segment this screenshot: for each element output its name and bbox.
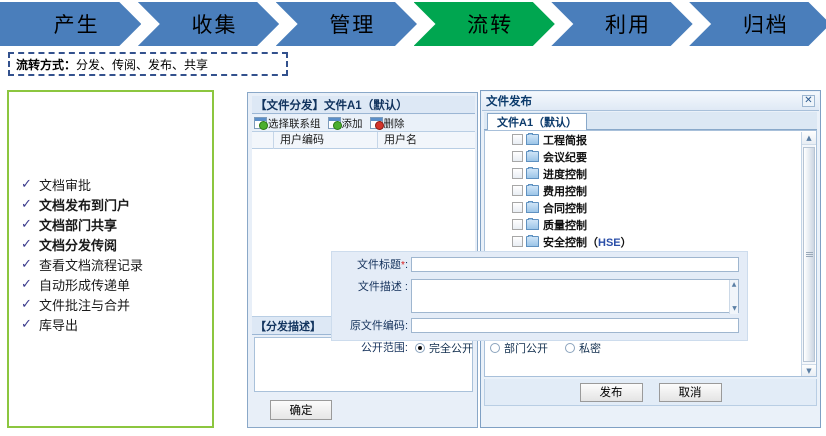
- toolbar-button-label: 删除: [384, 116, 405, 131]
- feature-item: ✓文档审批: [21, 174, 143, 194]
- publish-tab-bar: 文件A1（默认）: [484, 112, 817, 130]
- tree-checkbox[interactable]: [512, 202, 523, 213]
- tree-checkbox[interactable]: [512, 168, 523, 179]
- process-step-label: 产生: [54, 9, 100, 39]
- textarea-spin-down-icon[interactable]: ▼: [730, 304, 739, 314]
- close-icon[interactable]: ✕: [802, 95, 815, 107]
- file-title-label-text: 文件标题: [357, 259, 401, 271]
- toolbar-add-group-button[interactable]: 选择联系组: [252, 116, 321, 131]
- original-code-label: 原文件编码:: [332, 318, 411, 334]
- file-title-label: 文件标题*:: [332, 257, 411, 274]
- feature-item: ✓文件批注与合并: [21, 294, 143, 314]
- tree-item[interactable]: ▶安全控制（HSE）: [485, 233, 816, 250]
- badge-dot: [375, 121, 384, 130]
- confirm-button[interactable]: 确定: [270, 400, 332, 420]
- radio-button[interactable]: [415, 343, 425, 353]
- folder-icon: [526, 219, 539, 230]
- file-title-input[interactable]: [411, 257, 739, 272]
- expand-arrow-icon[interactable]: ▶: [499, 135, 510, 144]
- folder-icon: [526, 185, 539, 196]
- expand-arrow-icon[interactable]: ▶: [499, 186, 510, 195]
- feature-item: ✓文档部门共享: [21, 214, 143, 234]
- process-step-label: 归档: [743, 9, 789, 39]
- tree-item[interactable]: ▶进度控制: [485, 165, 816, 182]
- feature-item-label: 文件批注与合并: [39, 295, 130, 314]
- scope-radio-option[interactable]: 部门公开: [490, 340, 548, 356]
- scope-radio-option[interactable]: 私密: [565, 340, 601, 356]
- form-row-description: 文件描述 : ▲ ▼: [332, 279, 747, 313]
- expand-arrow-icon[interactable]: ▶: [499, 203, 510, 212]
- flow-method-note-title: 流转方式：: [10, 56, 76, 73]
- folder-icon: [526, 168, 539, 179]
- expand-arrow-icon[interactable]: ▶: [499, 237, 510, 246]
- tree-item[interactable]: ▶费用控制: [485, 182, 816, 199]
- process-chevron-bar: 产生收集管理流转利用归档: [0, 2, 826, 46]
- badge-dot: [259, 121, 268, 130]
- check-icon: ✓: [21, 297, 39, 312]
- feature-item-label: 文档分发传阅: [39, 235, 117, 254]
- add-group-icon: [254, 117, 267, 129]
- process-step-6[interactable]: 归档: [689, 2, 826, 46]
- publish-title: 文件发布: [482, 93, 532, 109]
- check-icon: ✓: [21, 277, 39, 292]
- radio-button[interactable]: [490, 343, 500, 353]
- scope-radio-label: 私密: [579, 340, 601, 356]
- folder-icon: [526, 151, 539, 162]
- tree-checkbox[interactable]: [512, 236, 523, 247]
- radio-button[interactable]: [565, 343, 575, 353]
- tree-checkbox[interactable]: [512, 151, 523, 162]
- feature-item: ✓库导出: [21, 314, 143, 334]
- file-description-label-text: 文件描述: [358, 281, 402, 293]
- feature-item-label: 文档部门共享: [39, 215, 117, 234]
- distribution-title-bar: 【文件分发】文件A1（默认）: [252, 96, 475, 114]
- original-code-label-text: 原文件编码: [350, 320, 405, 332]
- scope-radio-option[interactable]: 完全公开: [415, 340, 473, 356]
- distribution-description-title: 【分发描述】: [252, 318, 321, 334]
- tree-item[interactable]: ▶工程简报: [485, 131, 816, 148]
- expand-arrow-icon[interactable]: ▶: [499, 169, 510, 178]
- file-description-label: 文件描述 :: [332, 279, 411, 295]
- form-row-original-code: 原文件编码:: [332, 318, 747, 334]
- check-icon: ✓: [21, 177, 39, 192]
- tree-item-label: 会议纪要: [543, 149, 587, 165]
- distribution-toolbar: 选择联系组添加删除: [252, 115, 475, 132]
- flow-method-note: 流转方式： 分发、传阅、发布、共享: [8, 52, 288, 76]
- feature-panel: ✓文档审批✓文档发布到门户✓文档部门共享✓文档分发传阅✓查看文档流程记录✓自动形…: [7, 90, 214, 428]
- feature-item-label: 文档审批: [39, 175, 91, 194]
- scope-label: 公开范围:: [332, 340, 411, 356]
- distribution-title: 【文件分发】文件A1（默认）: [252, 97, 408, 113]
- publish-button[interactable]: 发布: [580, 383, 643, 402]
- toolbar-add-button[interactable]: 添加: [326, 116, 363, 131]
- feature-item: ✓查看文档流程记录: [21, 254, 143, 274]
- scroll-down-icon[interactable]: ▼: [802, 364, 816, 377]
- distribution-grid-header: 用户编码 用户名: [252, 132, 475, 149]
- scroll-up-icon[interactable]: ▲: [802, 132, 816, 145]
- toolbar-delete-button[interactable]: 删除: [368, 116, 405, 131]
- check-icon: ✓: [21, 237, 39, 252]
- check-icon: ✓: [21, 217, 39, 232]
- grid-header-user-code: 用户编码: [274, 132, 378, 149]
- expand-arrow-icon[interactable]: ▶: [499, 152, 510, 161]
- folder-icon: [526, 202, 539, 213]
- tree-checkbox[interactable]: [512, 185, 523, 196]
- feature-item-label: 自动形成传递单: [39, 275, 130, 294]
- form-row-scope: 公开范围: 完全公开部门公开私密: [332, 340, 747, 356]
- tree-checkbox[interactable]: [512, 219, 523, 230]
- form-row-title: 文件标题*:: [332, 257, 747, 274]
- tree-checkbox[interactable]: [512, 134, 523, 145]
- add-icon: [328, 117, 341, 129]
- expand-arrow-icon[interactable]: ▶: [499, 220, 510, 229]
- tree-item-label: 安全控制（HSE）: [543, 234, 632, 250]
- toolbar-button-label: 添加: [342, 116, 363, 131]
- publish-button-bar: 发布 取消: [484, 379, 817, 406]
- file-publish-form-dialog: 文件标题*: 文件描述 : ▲ ▼ 原文件编码: 公开范围: 完全公开部门公开私…: [331, 251, 748, 341]
- tab-file-a1[interactable]: 文件A1（默认）: [487, 113, 587, 130]
- tree-item-label: 进度控制: [543, 166, 587, 182]
- original-code-input[interactable]: [411, 318, 739, 333]
- process-step-5[interactable]: 利用: [551, 2, 692, 46]
- required-marker: *: [401, 260, 405, 271]
- grid-header-check: [252, 132, 274, 149]
- flow-method-note-text: 分发、传阅、发布、共享: [76, 56, 208, 73]
- tree-item-label: 质量控制: [543, 217, 587, 233]
- feature-item-label: 文档发布到门户: [39, 195, 130, 214]
- tree-item[interactable]: ▶合同控制: [485, 199, 816, 216]
- process-step-label: 管理: [329, 9, 375, 39]
- feature-item-label: 查看文档流程记录: [39, 255, 143, 274]
- feature-item: ✓自动形成传递单: [21, 274, 143, 294]
- folder-icon: [526, 134, 539, 145]
- process-step-3[interactable]: 管理: [276, 2, 417, 46]
- textarea-spinner[interactable]: ▲ ▼: [729, 280, 738, 314]
- tree-item-label: 工程简报: [543, 132, 587, 148]
- process-step-4[interactable]: 流转: [414, 2, 555, 46]
- tree-item-label: 费用控制: [543, 183, 587, 199]
- process-step-label: 利用: [605, 9, 651, 39]
- scope-radio-group[interactable]: 完全公开部门公开私密: [411, 340, 618, 356]
- check-icon: ✓: [21, 197, 39, 212]
- textarea-spin-up-icon[interactable]: ▲: [730, 280, 738, 290]
- check-icon: ✓: [21, 317, 39, 332]
- tree-item-label: 合同控制: [543, 200, 587, 216]
- process-step-1[interactable]: 产生: [0, 2, 141, 46]
- tree-vertical-scrollbar[interactable]: ▲ ▼: [801, 132, 815, 377]
- feature-item: ✓文档发布到门户: [21, 194, 143, 214]
- grid-header-user-name: 用户名: [378, 132, 475, 149]
- scrollbar-thumb[interactable]: [803, 147, 815, 362]
- check-icon: ✓: [21, 257, 39, 272]
- badge-dot: [333, 121, 342, 130]
- feature-check-list: ✓文档审批✓文档发布到门户✓文档部门共享✓文档分发传阅✓查看文档流程记录✓自动形…: [21, 174, 143, 334]
- process-step-2[interactable]: 收集: [138, 2, 279, 46]
- scope-radio-label: 部门公开: [504, 340, 548, 356]
- feature-item-label: 库导出: [39, 315, 78, 334]
- toolbar-button-label: 选择联系组: [268, 116, 321, 131]
- cancel-button[interactable]: 取消: [659, 383, 722, 402]
- tree-item[interactable]: ▶会议纪要: [485, 148, 816, 165]
- file-description-textarea[interactable]: ▲ ▼: [411, 279, 739, 313]
- process-step-label: 流转: [467, 9, 513, 39]
- tree-item[interactable]: ▶质量控制: [485, 216, 816, 233]
- delete-icon: [370, 117, 383, 129]
- publish-title-bar: 文件发布 ✕: [482, 92, 819, 111]
- process-step-label: 收集: [191, 9, 237, 39]
- hse-text: HSE: [598, 237, 621, 249]
- folder-icon: [526, 236, 539, 247]
- scope-radio-label: 完全公开: [429, 340, 473, 356]
- feature-item: ✓文档分发传阅: [21, 234, 143, 254]
